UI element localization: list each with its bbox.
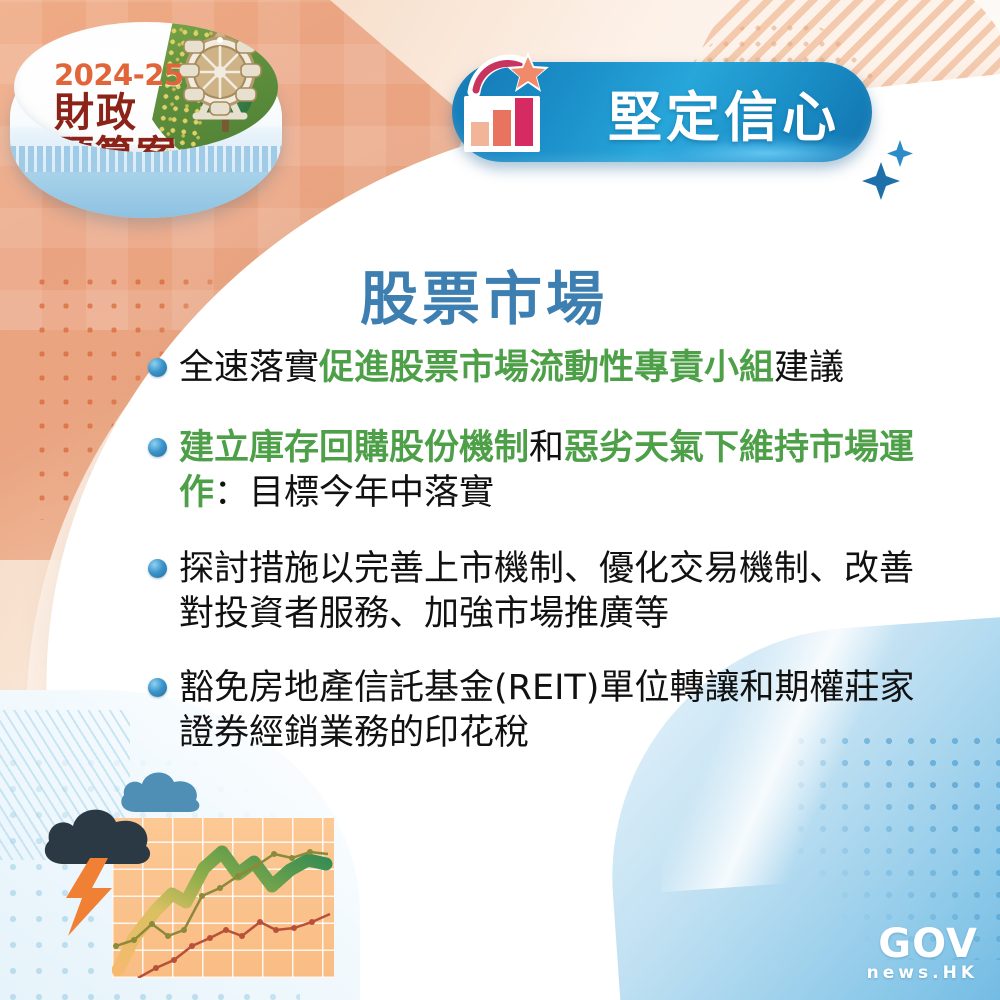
budget-logo-top-face: 2024-25 財政 預算案: [14, 22, 278, 152]
plain-phrase: 豁免房地產信託基金(REIT)單位轉讓和期權莊家證券經銷業務的印花稅: [179, 668, 914, 754]
city-skyline-base: [10, 172, 282, 218]
storm-cloud-icon: [40, 800, 156, 866]
stormy-market-chart-illustration: [18, 760, 348, 990]
bullet-dot-icon: [148, 559, 167, 578]
budget-year-label: 2024-25: [54, 58, 214, 92]
list-item: 豁免房地產信託基金(REIT)單位轉讓和期權莊家證券經銷業務的印花稅: [148, 666, 928, 757]
plain-phrase: 探討措施以完善上市機制、優化交易機制、改善對投資者服務、加強市場推廣等: [179, 549, 914, 635]
header-badge: 堅定信心: [452, 62, 872, 170]
govnews-logo-line2: news.HK: [867, 965, 978, 982]
bullet-dot-icon: [148, 438, 167, 457]
highlighted-phrase: 建立庫存回購股份機制: [179, 428, 529, 468]
bar-chart-growth-icon: [440, 40, 560, 162]
budget-title-line2: 預算案: [54, 136, 214, 152]
bullet-dot-icon: [148, 358, 167, 377]
bullet-text-3: 探討措施以完善上市機制、優化交易機制、改善對投資者服務、加強市場推廣等: [179, 547, 928, 638]
page-title: 股票市場: [360, 252, 608, 336]
sparkle-icon: [854, 132, 924, 202]
plain-phrase: ：目標今年中落實: [214, 473, 494, 513]
govnews-logo-line1: GOV: [867, 925, 978, 963]
budget-title-line1: 財政: [54, 93, 214, 134]
list-item: 探討措施以完善上市機制、優化交易機制、改善對投資者服務、加強市場推廣等: [148, 547, 928, 638]
bullet-list: 全速落實促進股票市場流動性專責小組建議 建立庫存回購股份機制和惡劣天氣下維持市場…: [148, 346, 928, 781]
budget-logo-text: 2024-25 財政 預算案: [54, 58, 214, 152]
govnews-logo: GOV news.HK: [867, 925, 978, 982]
list-item: 建立庫存回購股份機制和惡劣天氣下維持市場運作：目標今年中落實: [148, 426, 928, 517]
highlighted-phrase: 促進股票市場流動性專責小組: [319, 348, 774, 388]
plain-phrase: 全速落實: [179, 348, 319, 388]
list-item: 全速落實促進股票市場流動性專責小組建議: [148, 346, 928, 392]
plain-phrase: 和: [529, 428, 564, 468]
bullet-text-4: 豁免房地產信託基金(REIT)單位轉讓和期權莊家證券經銷業務的印花稅: [179, 666, 928, 757]
plain-phrase: 建議: [774, 348, 844, 388]
infographic-canvas: 2024-25 財政 預算案 堅定信心 股票市場: [0, 0, 1000, 1000]
bullet-text-1: 全速落實促進股票市場流動性專責小組建議: [179, 346, 844, 392]
bullet-text-2: 建立庫存回購股份機制和惡劣天氣下維持市場運作：目標今年中落實: [179, 426, 928, 517]
bullet-dot-icon: [148, 678, 167, 697]
budget-logo: 2024-25 財政 預算案: [2, 8, 302, 228]
lightning-bolt-icon: [60, 858, 116, 936]
